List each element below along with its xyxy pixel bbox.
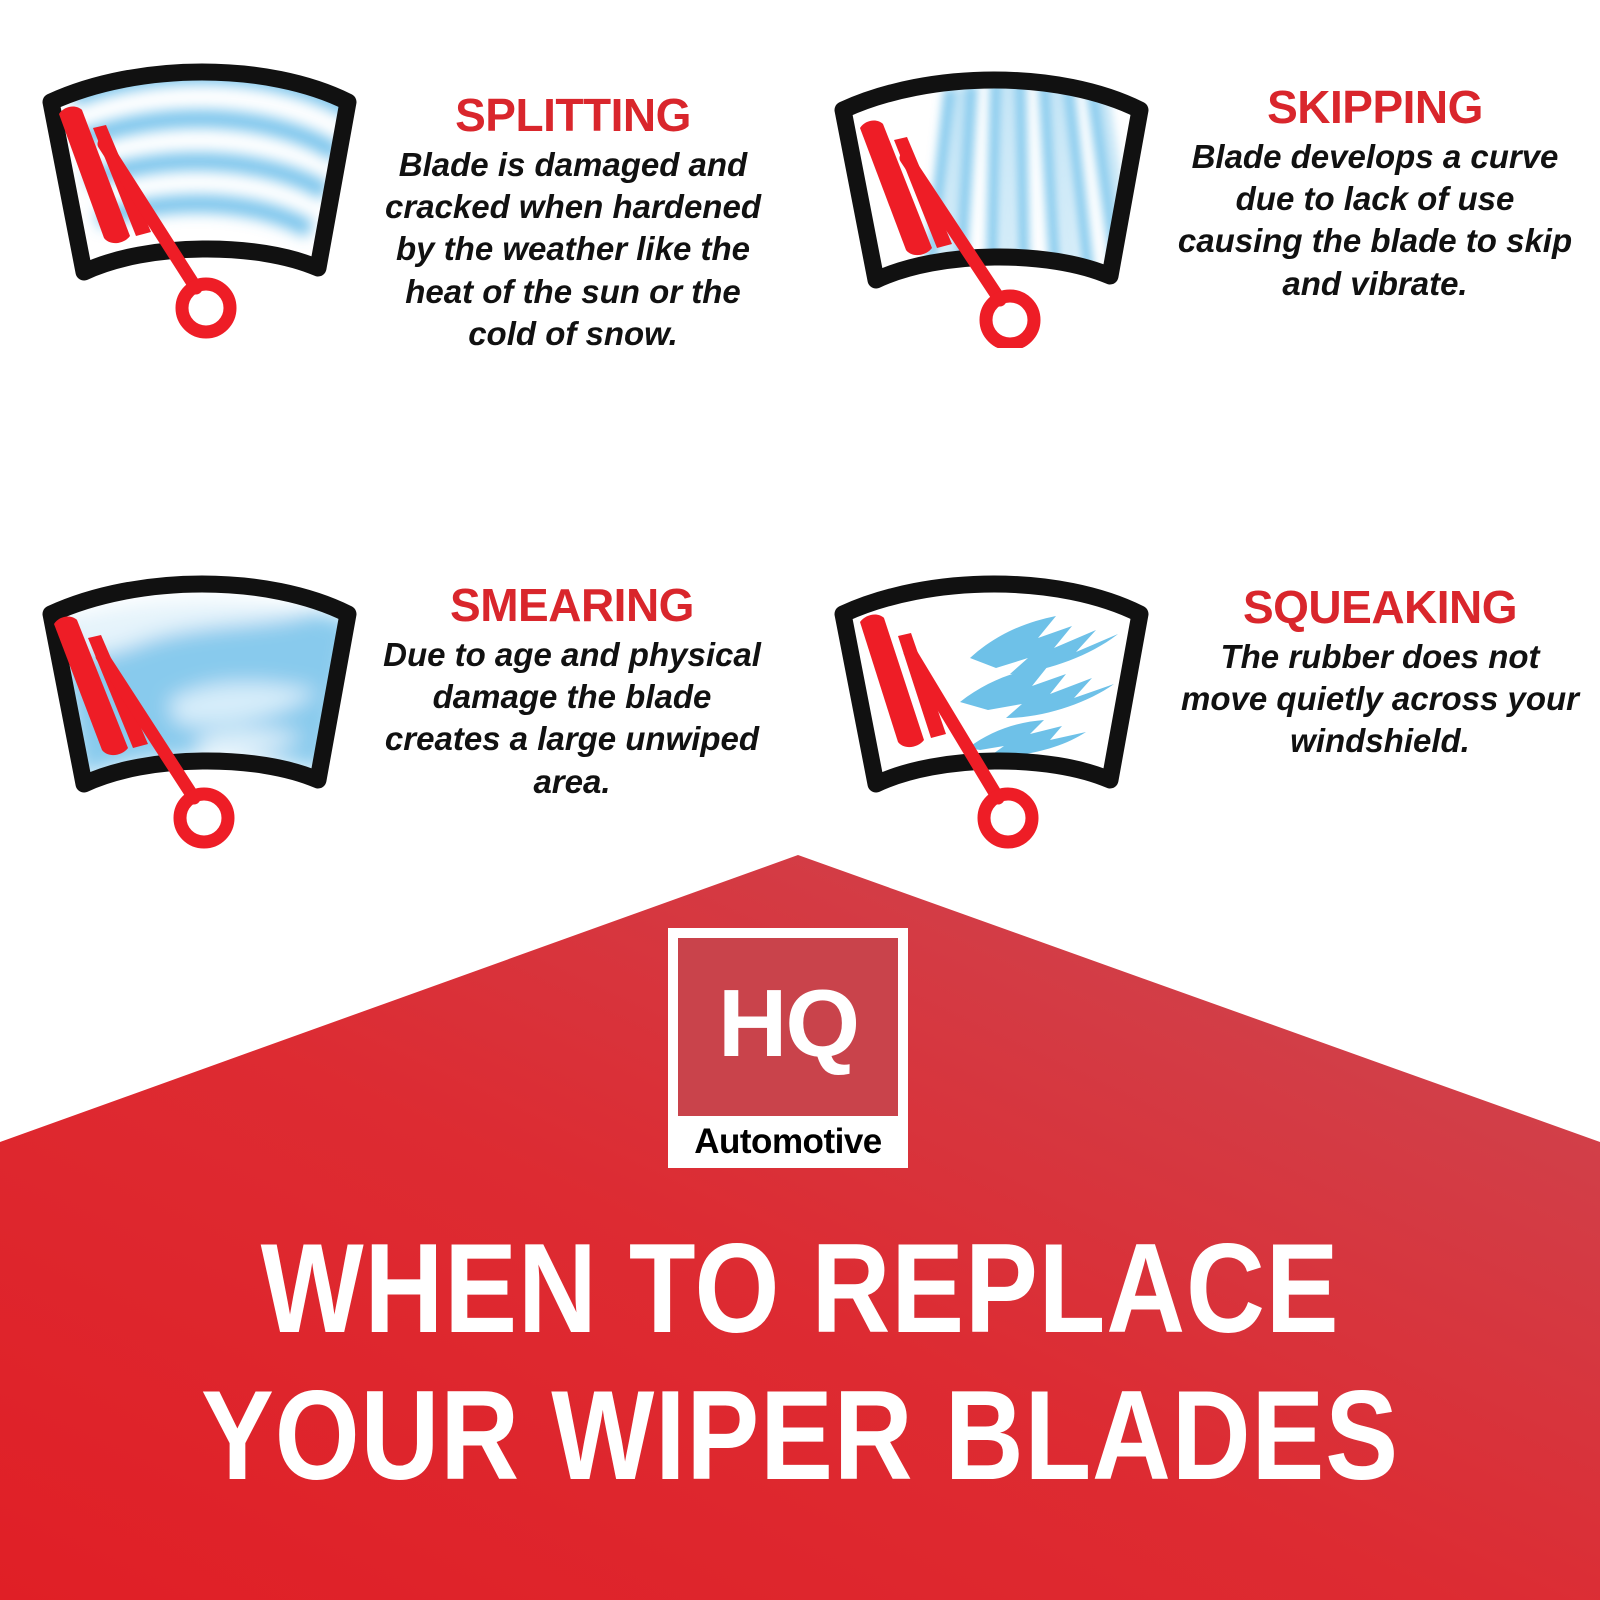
windshield-wiper-smearing-icon	[18, 552, 378, 857]
panel-splitting-title: SPLITTING	[378, 92, 768, 138]
panel-smearing-text: SMEARING Due to age and physical damage …	[372, 582, 772, 803]
hq-automotive-logo: HQ Automotive	[668, 928, 908, 1168]
windshield-wiper-skipping-icon	[810, 48, 1170, 353]
panel-splitting-body: Blade is damaged and cracked when harden…	[378, 144, 768, 355]
panel-squeaking-title: SQUEAKING	[1180, 584, 1580, 630]
logo-mark-square: HQ	[678, 938, 898, 1116]
windshield-wiper-splitting-icon	[18, 40, 378, 345]
page-headline: WHEN TO REPLACE YOUR WIPER BLADES	[112, 1215, 1488, 1510]
logo-subtitle: Automotive	[678, 1116, 898, 1168]
panel-skipping-title: SKIPPING	[1170, 84, 1580, 130]
panel-smearing-body: Due to age and physical damage the blade…	[372, 634, 772, 803]
panel-smearing-title: SMEARING	[372, 582, 772, 628]
panel-squeaking-body: The rubber does not move quietly across …	[1180, 636, 1580, 763]
infographic-canvas: SPLITTING Blade is damaged and cracked w…	[0, 0, 1600, 1600]
panel-skipping-text: SKIPPING Blade develops a curve due to l…	[1170, 84, 1580, 305]
panel-splitting-text: SPLITTING Blade is damaged and cracked w…	[378, 92, 768, 355]
panel-skipping-body: Blade develops a curve due to lack of us…	[1170, 136, 1580, 305]
panel-squeaking-text: SQUEAKING The rubber does not move quiet…	[1180, 584, 1580, 763]
windshield-wiper-squeaking-icon	[810, 552, 1170, 857]
logo-mark-text: HQ	[718, 976, 858, 1072]
